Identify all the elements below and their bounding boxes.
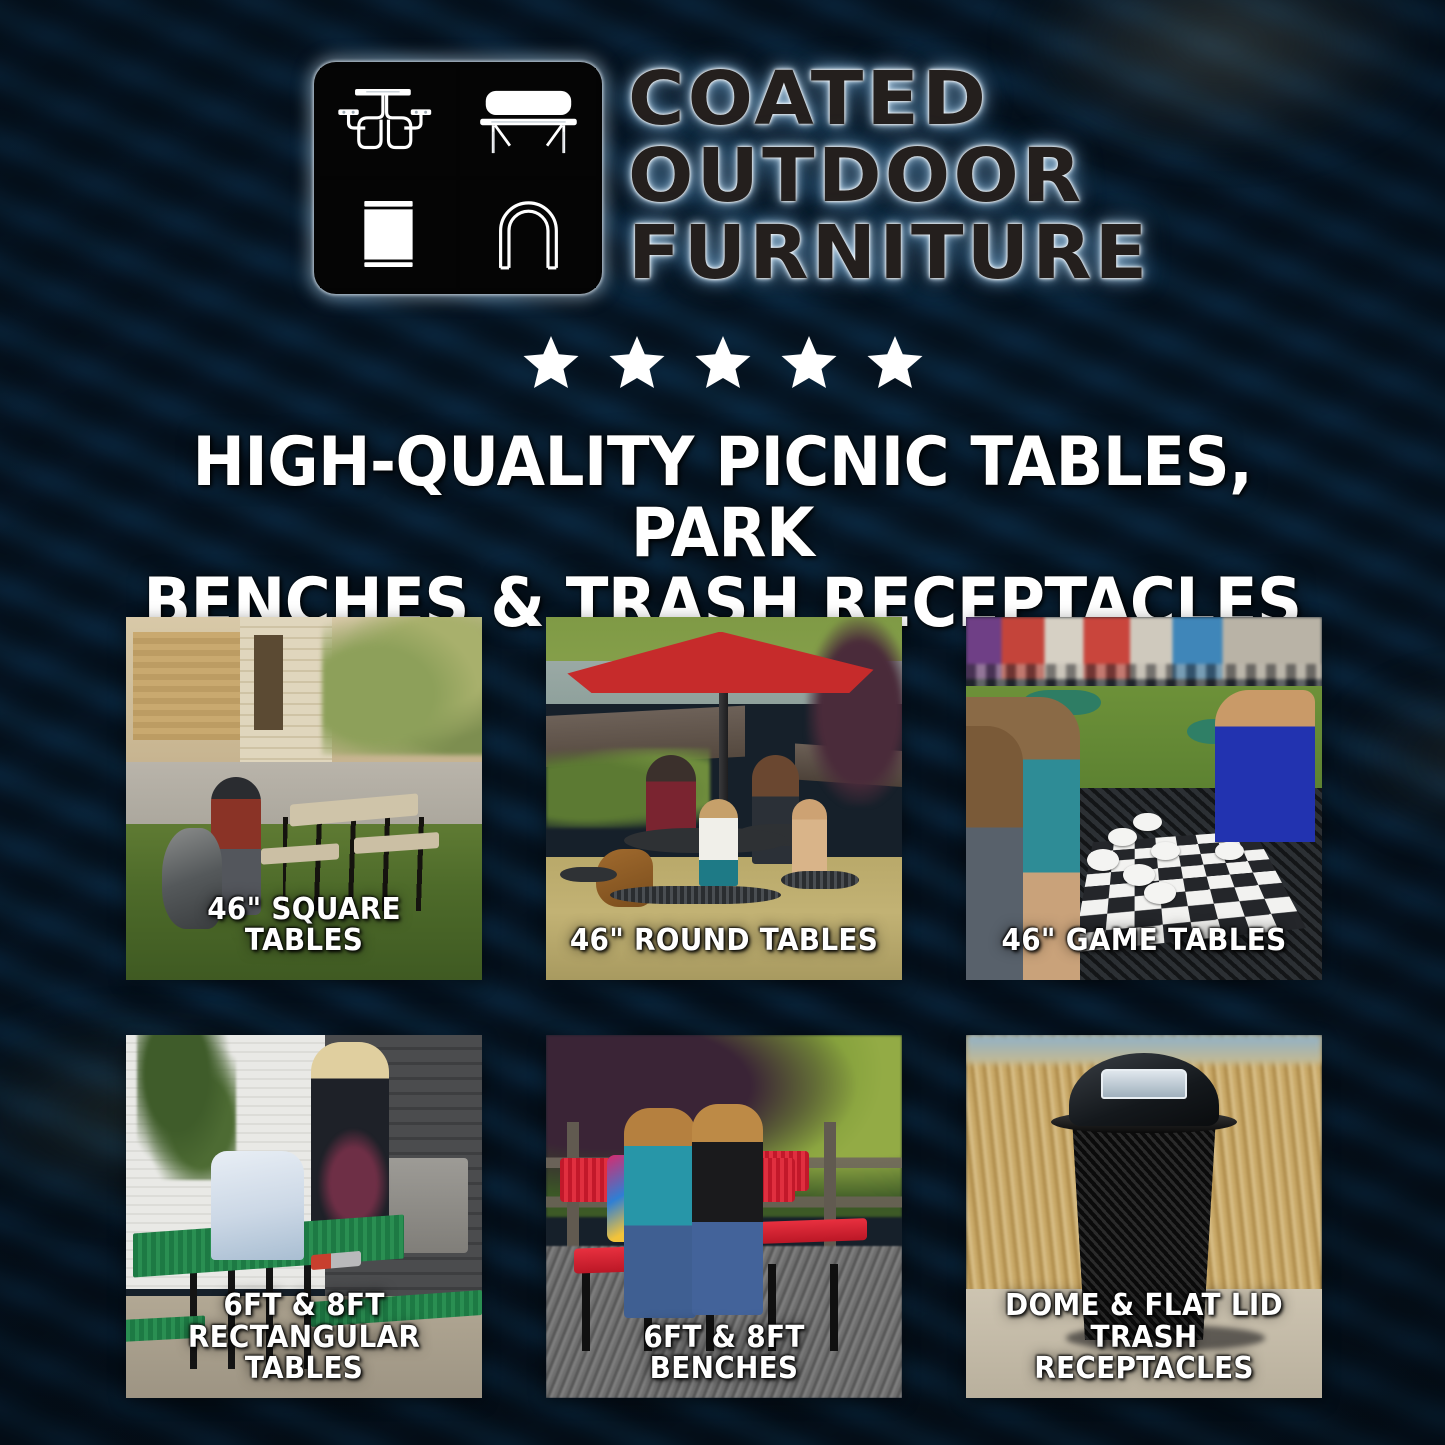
- product-tile-round-tables[interactable]: 46" ROUND TABLES: [546, 617, 902, 980]
- product-tile-square-tables[interactable]: 46" SQUARE TABLES: [126, 617, 482, 980]
- picnic-table-icon: [320, 68, 456, 176]
- product-caption: 6FT & 8FT BENCHES: [558, 1322, 889, 1384]
- star-icon: [606, 332, 668, 392]
- product-caption: 46" SQUARE TABLES: [138, 894, 469, 956]
- star-icon: [864, 332, 926, 392]
- product-caption: 46" GAME TABLES: [978, 925, 1309, 956]
- product-caption: DOME & FLAT LID TRASH RECEPTACLES: [978, 1290, 1309, 1384]
- product-caption: 6FT & 8FT RECTANGULAR TABLES: [138, 1290, 469, 1384]
- brand-wordmark: COATED OUTDOOR FURNITURE: [628, 62, 1130, 289]
- rating-stars: [0, 332, 1445, 392]
- headline-text: HIGH-QUALITY PICNIC TABLES, PARK BENCHES…: [58, 428, 1387, 640]
- star-icon: [692, 332, 754, 392]
- product-tile-trash-receptacles[interactable]: DOME & FLAT LID TRASH RECEPTACLES: [966, 1035, 1322, 1398]
- star-icon: [778, 332, 840, 392]
- product-tile-benches[interactable]: 6FT & 8FT BENCHES: [546, 1035, 902, 1398]
- brand-word-outdoor: OUTDOOR: [628, 141, 1084, 212]
- product-tile-rectangular-tables[interactable]: 6FT & 8FT RECTANGULAR TABLES: [126, 1035, 482, 1398]
- logo-icon-grid: [314, 62, 602, 294]
- brand-logo: COATED OUTDOOR FURNITURE: [0, 62, 1445, 294]
- trash-receptacle-icon: [320, 180, 456, 288]
- product-caption: 46" ROUND TABLES: [558, 925, 889, 956]
- bike-rack-icon: [460, 180, 596, 288]
- brand-word-furniture: FURNITURE: [628, 218, 1150, 289]
- poster-canvas: COATED OUTDOOR FURNITURE HIGH-QUALITY PI…: [0, 0, 1445, 1445]
- product-grid: 46" SQUARE TABLES: [126, 617, 1322, 1398]
- brand-word-coated: COATED: [628, 64, 989, 135]
- bench-icon: [460, 68, 596, 176]
- star-icon: [520, 332, 582, 392]
- product-tile-game-tables[interactable]: 46" GAME TABLES: [966, 617, 1322, 980]
